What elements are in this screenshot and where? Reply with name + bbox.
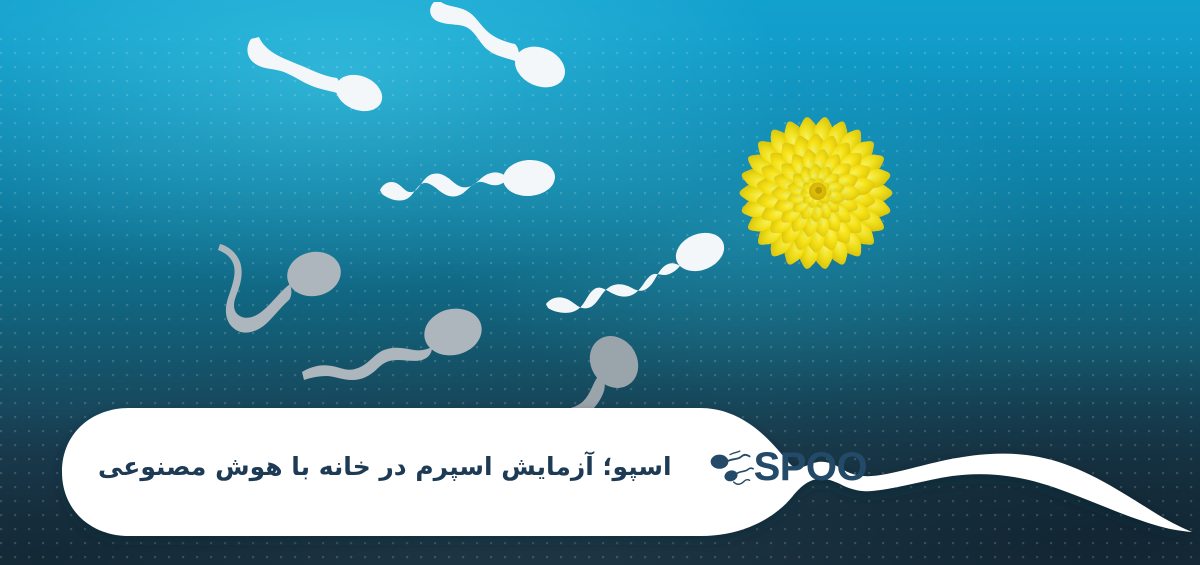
sperm-cell-icon: [374, 148, 564, 218]
sperm-cell-icon: [296, 300, 486, 390]
promo-banner: اسپو؛ آزمایش اسپرم در خانه با هوش مصنوعی…: [0, 0, 1200, 565]
logo-wordmark: SPOO: [754, 447, 868, 487]
sperm-cell-icon: [240, 22, 400, 122]
banner-content: اسپو؛ آزمایش اسپرم در خانه با هوش مصنوعی…: [70, 408, 770, 526]
dandelion-flower-icon: [728, 105, 904, 281]
sperm-cluster-icon: [708, 444, 754, 490]
sperm-cell-icon: [424, 0, 599, 106]
page-title: اسپو؛ آزمایش اسپرم در خانه با هوش مصنوعی: [98, 451, 672, 482]
flower-center-dot: [815, 187, 822, 194]
spoo-logo[interactable]: SPOO: [712, 444, 868, 490]
sperm-cell-icon: [540, 222, 725, 322]
